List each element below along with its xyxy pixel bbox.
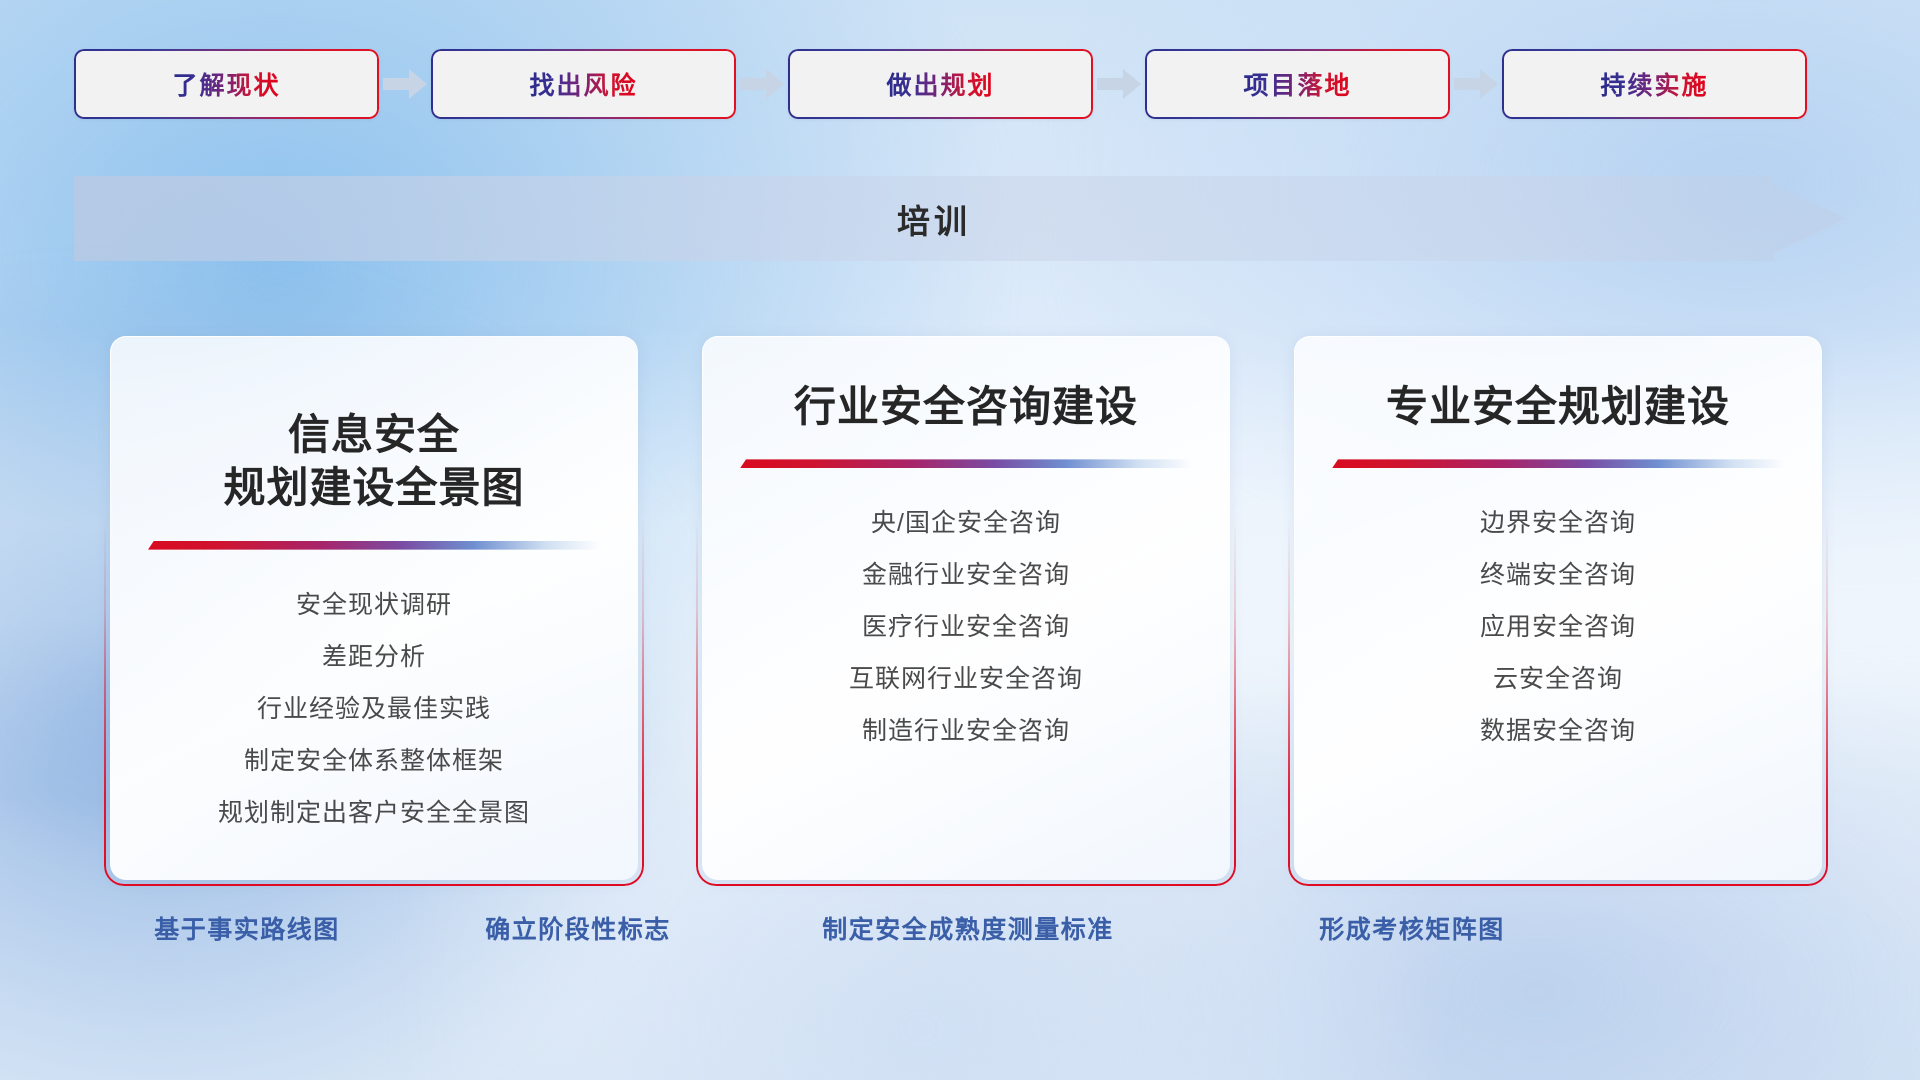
service-card-1-title: 行业安全咨询建设 xyxy=(702,380,1230,433)
training-banner-arrow: 培训 xyxy=(74,176,1846,261)
footer-label-2: 制定安全成熟度测量标准 xyxy=(822,910,1114,946)
footer-label-row: 基于事实路线图 确立阶段性标志 制定安全成熟度测量标准 形成考核矩阵图 xyxy=(0,910,1920,980)
service-card-1[interactable]: 行业安全咨询建设 央/国企安全咨询 金融行业安全咨询 医疗行业安全咨询 互联网行… xyxy=(702,336,1230,880)
list-item: 边界安全咨询 xyxy=(1480,502,1636,544)
service-card-2-title: 专业安全规划建设 xyxy=(1294,380,1822,433)
list-item: 行业经验及最佳实践 xyxy=(257,688,491,730)
service-card-2-divider xyxy=(1332,459,1784,468)
service-card-1-divider xyxy=(740,459,1192,468)
list-item: 差距分析 xyxy=(322,636,426,678)
service-card-row: 信息安全 规划建设全景图 安全现状调研 差距分析 行业经验及最佳实践 制定安全体… xyxy=(0,336,1920,880)
process-step-0-wrap: 了解现状 xyxy=(74,49,379,119)
process-step-2-wrap: 做出规划 xyxy=(788,49,1093,119)
step-arrow-icon-2 xyxy=(1093,49,1145,119)
list-item: 数据安全咨询 xyxy=(1480,710,1636,752)
process-step-4-wrap: 持续实施 xyxy=(1502,49,1807,119)
footer-label-3: 形成考核矩阵图 xyxy=(1319,910,1505,946)
service-card-0[interactable]: 信息安全 规划建设全景图 安全现状调研 差距分析 行业经验及最佳实践 制定安全体… xyxy=(110,336,638,880)
list-item: 规划制定出客户安全全景图 xyxy=(218,792,530,834)
list-item: 医疗行业安全咨询 xyxy=(862,606,1070,648)
process-step-box-1[interactable]: 找出风险 xyxy=(431,49,736,119)
step-arrow-icon-0 xyxy=(379,49,431,119)
service-card-2-divider-wrap xyxy=(1294,433,1822,468)
footer-label-0: 基于事实路线图 xyxy=(154,910,340,946)
step-arrow-icon-3 xyxy=(1450,49,1502,119)
service-card-0-list: 安全现状调研 差距分析 行业经验及最佳实践 制定安全体系整体框架 规划制定出客户… xyxy=(110,584,638,834)
list-item: 制造行业安全咨询 xyxy=(862,710,1070,752)
process-step-3-wrap: 项目落地 xyxy=(1145,49,1450,119)
service-card-0-divider xyxy=(148,541,600,550)
list-item: 金融行业安全咨询 xyxy=(862,554,1070,596)
service-card-1-list: 央/国企安全咨询 金融行业安全咨询 医疗行业安全咨询 互联网行业安全咨询 制造行… xyxy=(702,502,1230,752)
process-step-label-0: 了解现状 xyxy=(172,66,280,102)
training-banner-label: 培训 xyxy=(74,176,1794,261)
list-item: 互联网行业安全咨询 xyxy=(849,658,1083,700)
step-arrow-icon-1 xyxy=(736,49,788,119)
process-step-1-wrap: 找出风险 xyxy=(431,49,736,119)
process-step-box-2[interactable]: 做出规划 xyxy=(788,49,1093,119)
service-card-0-divider-wrap xyxy=(110,515,638,550)
process-step-box-0[interactable]: 了解现状 xyxy=(74,49,379,119)
list-item: 央/国企安全咨询 xyxy=(871,502,1061,544)
process-step-row: 了解现状 找出风险 做出规划 项目落地 xyxy=(0,0,1920,168)
service-card-2[interactable]: 专业安全规划建设 边界安全咨询 终端安全咨询 应用安全咨询 云安全咨询 数据安全… xyxy=(1294,336,1822,880)
process-step-label-3: 项目落地 xyxy=(1243,66,1351,102)
service-card-0-title: 信息安全 规划建设全景图 xyxy=(110,408,638,515)
process-step-box-4[interactable]: 持续实施 xyxy=(1502,49,1807,119)
footer-label-1: 确立阶段性标志 xyxy=(485,910,671,946)
process-step-label-4: 持续实施 xyxy=(1600,66,1708,102)
service-card-1-divider-wrap xyxy=(702,433,1230,468)
list-item: 制定安全体系整体框架 xyxy=(244,740,504,782)
list-item: 安全现状调研 xyxy=(296,584,452,626)
process-step-label-1: 找出风险 xyxy=(529,66,637,102)
list-item: 终端安全咨询 xyxy=(1480,554,1636,596)
process-step-box-3[interactable]: 项目落地 xyxy=(1145,49,1450,119)
process-step-label-2: 做出规划 xyxy=(886,66,994,102)
service-card-2-list: 边界安全咨询 终端安全咨询 应用安全咨询 云安全咨询 数据安全咨询 xyxy=(1294,502,1822,752)
list-item: 应用安全咨询 xyxy=(1480,606,1636,648)
list-item: 云安全咨询 xyxy=(1493,658,1623,700)
